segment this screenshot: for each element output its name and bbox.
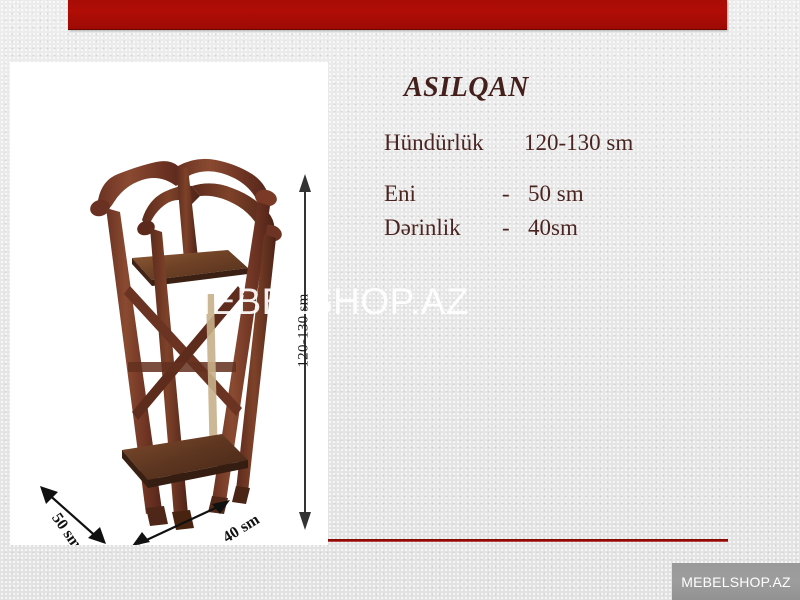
spec-row-width: Eni-50 sm bbox=[384, 181, 584, 207]
height-dimension-label: 120-130 sm bbox=[296, 271, 313, 391]
spec-label-height: Hündürlük bbox=[384, 130, 524, 156]
spec-row-depth: Dərinlik-40sm bbox=[384, 215, 578, 241]
brand-badge-label: MEBELSHOP.AZ bbox=[681, 574, 791, 590]
spec-value-height: 120-130 sm bbox=[524, 130, 633, 156]
spec-label-depth: Dərinlik bbox=[384, 215, 502, 241]
spec-value-depth: 40sm bbox=[528, 215, 578, 241]
top-red-banner bbox=[68, 0, 727, 30]
brand-badge[interactable]: MEBELSHOP.AZ bbox=[672, 563, 800, 600]
page-title: ASILQAN bbox=[404, 72, 529, 104]
valet-stand-illustration bbox=[10, 62, 328, 545]
height-dimension-arrow: 120-130 sm bbox=[282, 172, 328, 532]
spec-label-width: Eni bbox=[384, 181, 502, 207]
bottom-red-rule bbox=[328, 539, 728, 542]
spec-row-height: Hündürlük120-130 sm bbox=[384, 130, 633, 156]
product-photo-panel: 120-130 sm 50 sm 40 sm bbox=[10, 62, 328, 545]
spec-value-width: 50 sm bbox=[528, 181, 584, 207]
spec-dash-width: - bbox=[502, 181, 528, 207]
slide-canvas: 120-130 sm 50 sm 40 sm MEBELSHOP.AZ ASIL… bbox=[0, 0, 800, 600]
spec-dash-depth: - bbox=[502, 215, 528, 241]
